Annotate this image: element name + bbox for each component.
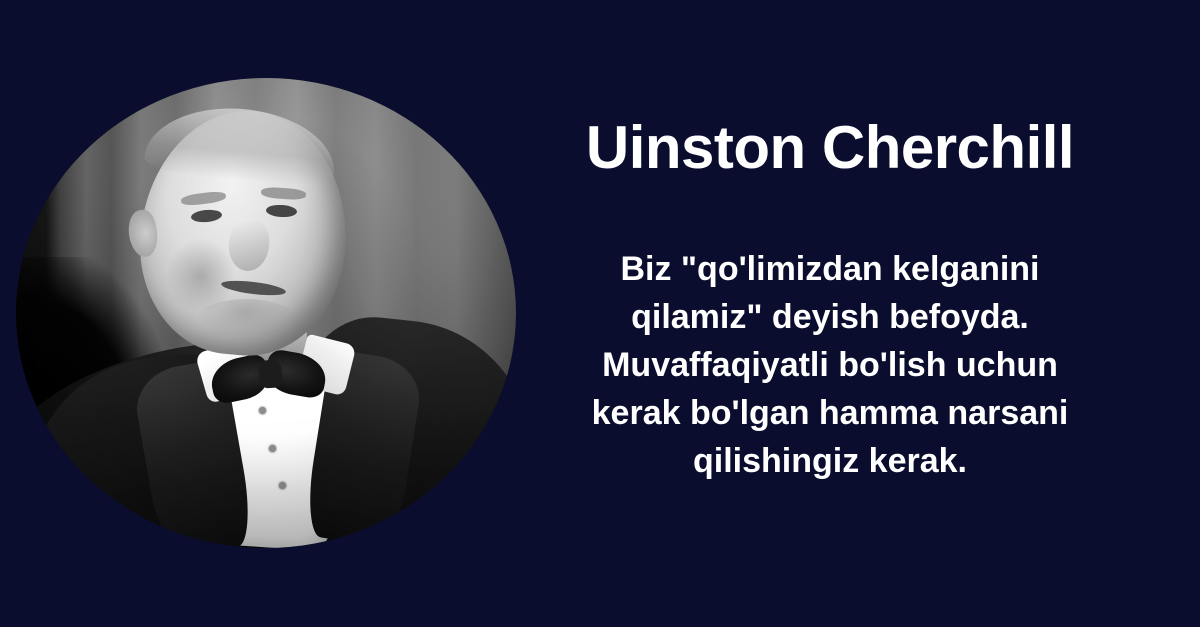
portrait-photo	[16, 78, 516, 548]
quote-line: Biz "qo'limizdan kelganini	[620, 250, 1039, 288]
portrait-vignette	[16, 78, 516, 548]
quote-line: qilamiz" deyish befoyda.	[631, 298, 1029, 336]
quote-line: Muvaffaqiyatli bo'lish uchun	[602, 346, 1058, 384]
quote-line: kerak bo'lgan hamma narsani	[592, 394, 1069, 432]
quote-line: qilishingiz kerak.	[693, 442, 967, 480]
author-name: Uinston Cherchill	[520, 118, 1140, 178]
text-column: Uinston Cherchill Biz "qo'limizdan kelga…	[520, 0, 1140, 627]
quote-text: Biz "qo'limizdan kelganini qilamiz" deyi…	[511, 245, 1149, 485]
author-portrait	[16, 78, 516, 548]
quote-card: Uinston Cherchill Biz "qo'limizdan kelga…	[0, 0, 1200, 627]
